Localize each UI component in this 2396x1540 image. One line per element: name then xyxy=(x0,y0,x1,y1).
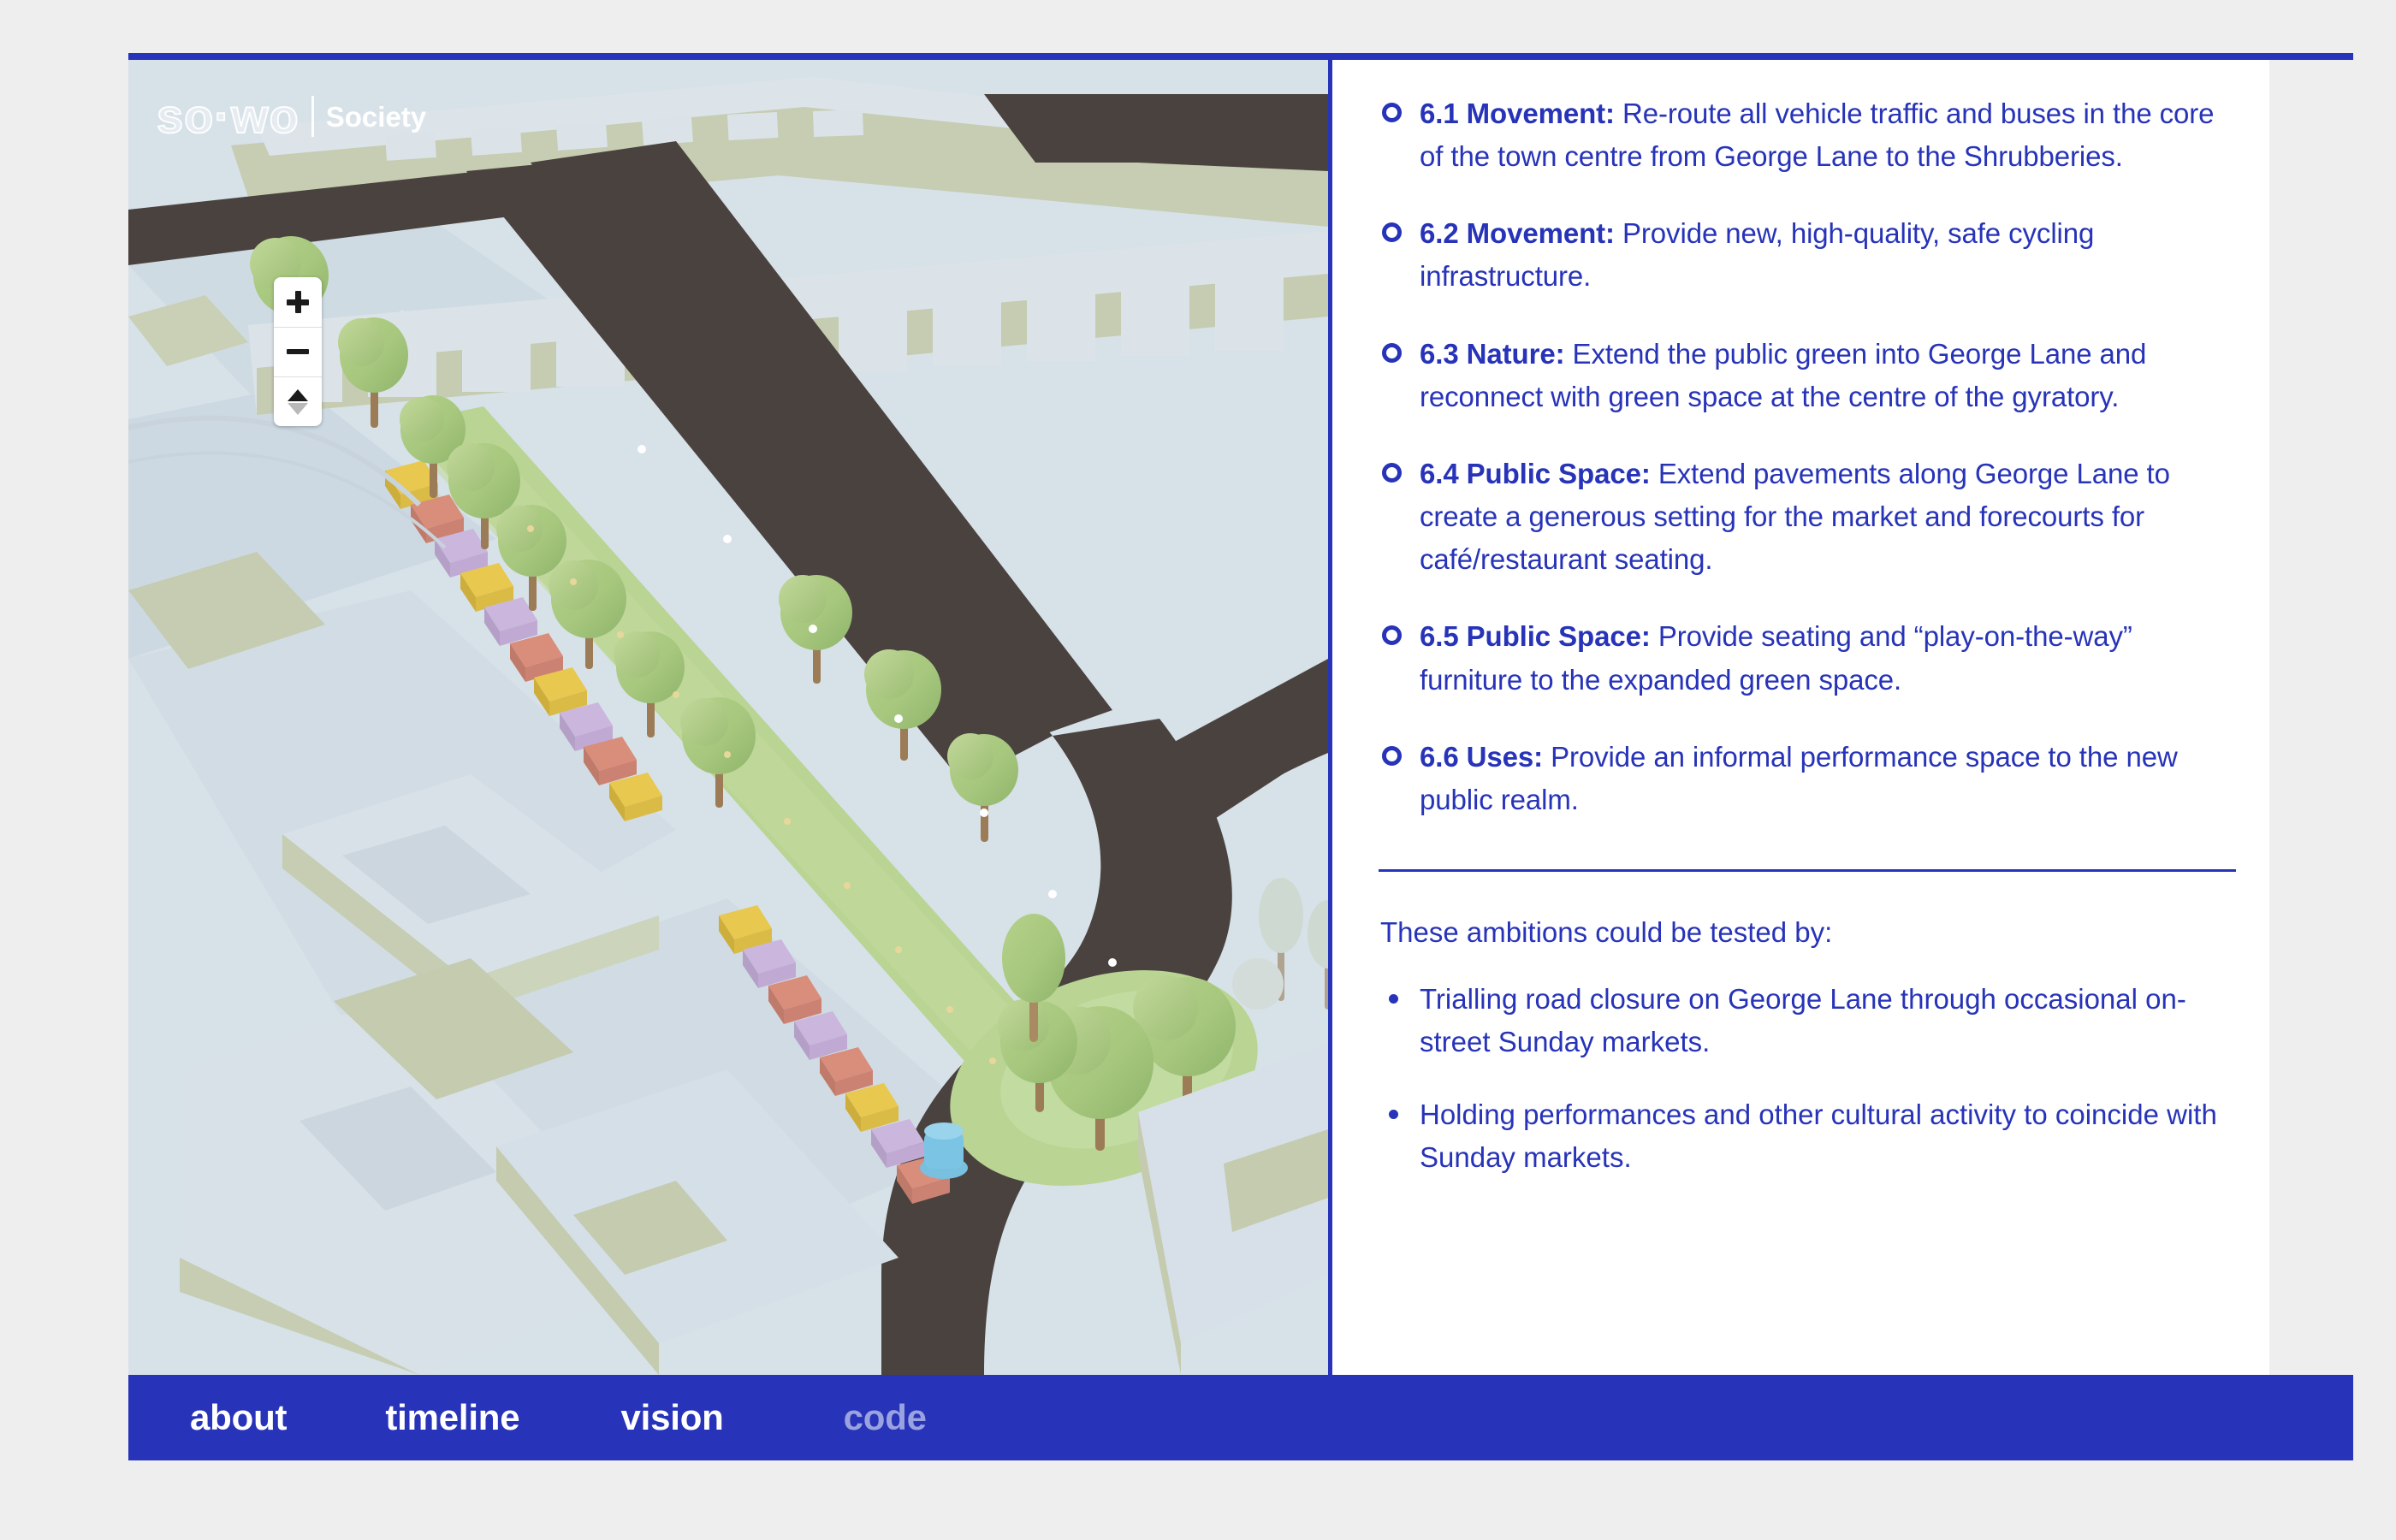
map-illustration xyxy=(128,60,1328,1375)
compass-icon xyxy=(288,389,308,415)
tested-by-list: Trialling road closure on George Lane th… xyxy=(1380,978,2228,1179)
tested-item-text: Trialling road closure on George Lane th… xyxy=(1420,983,2186,1057)
section-divider xyxy=(1379,869,2236,872)
ambition-label: 6.3 Nature: xyxy=(1420,338,1564,370)
ambitions-list: 6.1 Movement: Re-route all vehicle traff… xyxy=(1380,92,2228,821)
map-controls[interactable] xyxy=(274,277,322,426)
minus-icon xyxy=(287,341,309,364)
ring-bullet-icon xyxy=(1382,343,1402,363)
content-row: so·wo Society xyxy=(128,60,2353,1375)
plus-icon xyxy=(287,291,309,313)
ambition-label: 6.5 Public Space: xyxy=(1420,620,1651,652)
list-item: 6.6 Uses: Provide an informal performanc… xyxy=(1380,736,2228,821)
ambition-label: 6.4 Public Space: xyxy=(1420,458,1651,489)
dot-bullet-icon xyxy=(1389,994,1398,1004)
nav-item-about[interactable]: about xyxy=(190,1397,287,1438)
list-item: 6.3 Nature: Extend the public green into… xyxy=(1380,333,2228,418)
ambition-label: 6.2 Movement: xyxy=(1420,217,1615,249)
compass-tilt-button[interactable] xyxy=(274,376,322,426)
ring-bullet-icon xyxy=(1382,103,1402,122)
list-item: 6.2 Movement: Provide new, high-quality,… xyxy=(1380,212,2228,298)
list-item: Holding performances and other cultural … xyxy=(1380,1093,2228,1179)
nav-item-timeline[interactable]: timeline xyxy=(385,1397,519,1438)
bottom-navigation[interactable]: about timeline vision code xyxy=(128,1375,2353,1460)
top-accent-rule xyxy=(128,53,2353,60)
zoom-in-button[interactable] xyxy=(274,277,322,327)
tested-by-lead: These ambitions could be tested by: xyxy=(1380,911,2228,954)
ring-bullet-icon xyxy=(1382,222,1402,242)
ring-bullet-icon xyxy=(1382,463,1402,483)
map-3d-scene[interactable] xyxy=(128,60,1328,1375)
vision-text-panel: 6.1 Movement: Re-route all vehicle traff… xyxy=(1328,60,2269,1375)
map-viewport[interactable]: so·wo Society xyxy=(128,60,1328,1375)
list-item: 6.4 Public Space: Extend pavements along… xyxy=(1380,453,2228,581)
app-root: so·wo Society xyxy=(128,53,2353,1520)
list-item: 6.1 Movement: Re-route all vehicle traff… xyxy=(1380,92,2228,178)
dot-bullet-icon xyxy=(1389,1110,1398,1119)
list-item: 6.5 Public Space: Provide seating and “p… xyxy=(1380,615,2228,701)
ambition-label: 6.1 Movement: xyxy=(1420,98,1615,129)
zoom-out-button[interactable] xyxy=(274,327,322,376)
nav-item-vision[interactable]: vision xyxy=(620,1397,723,1438)
ambition-label: 6.6 Uses: xyxy=(1420,741,1543,773)
ring-bullet-icon xyxy=(1382,746,1402,766)
ring-bullet-icon xyxy=(1382,625,1402,645)
tested-item-text: Holding performances and other cultural … xyxy=(1420,1099,2217,1173)
nav-item-code[interactable]: code xyxy=(844,1397,927,1438)
list-item: Trialling road closure on George Lane th… xyxy=(1380,978,2228,1063)
